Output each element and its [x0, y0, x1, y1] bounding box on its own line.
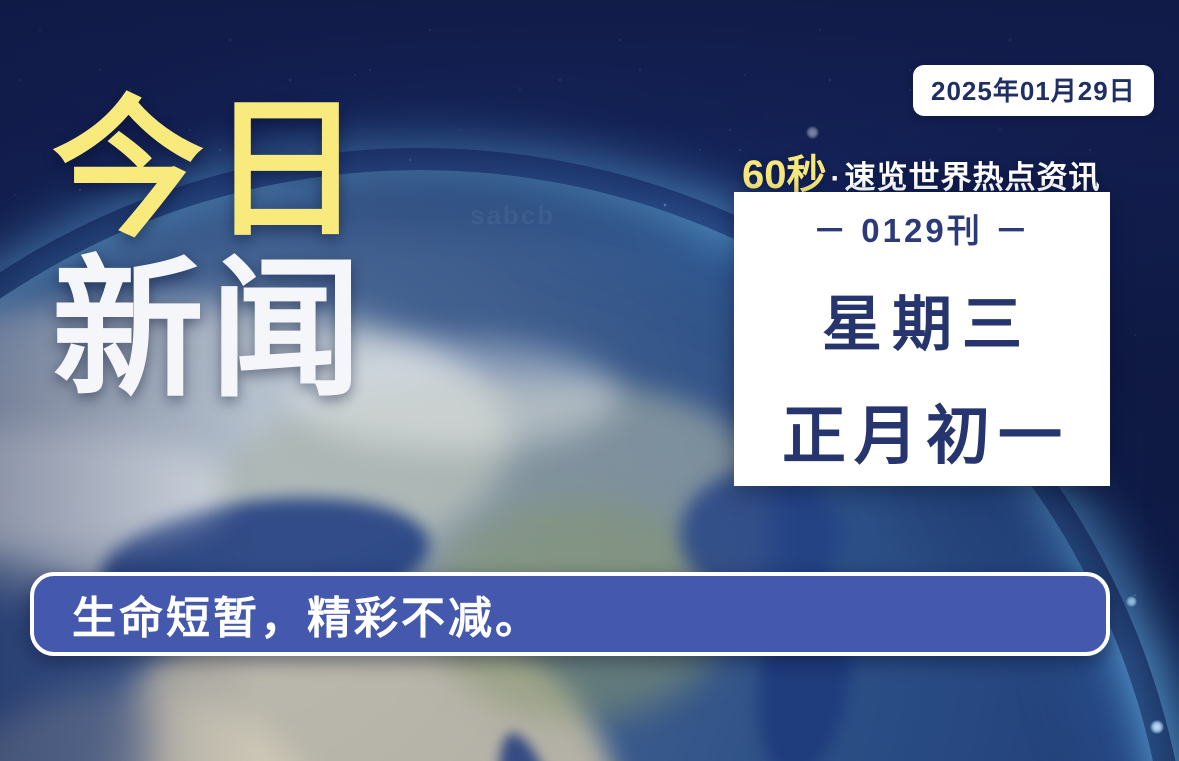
slogan-text: 速览世界热点资讯 [845, 160, 1101, 195]
lunar-date-label: 正月初一 [774, 385, 1070, 477]
watermark-text: sabcb [470, 200, 555, 231]
bottom-slogan-text: 生命短暂，精彩不减。 [72, 582, 542, 646]
issue-card: － 0129刊 － 星期三 正月初一 [734, 192, 1110, 486]
weekday-label: 星期三 [812, 276, 1032, 363]
news-poster: sabcb 今日 新闻 2025年01月29日 60秒·速览世界热点资讯 － 0… [0, 0, 1179, 761]
page-title-line-2: 新闻 [52, 258, 368, 404]
issue-number: － 0129刊 － [813, 204, 1031, 252]
page-title-line-1: 今日 [52, 98, 368, 244]
page-title: 今日 新闻 [52, 98, 368, 404]
slogan-separator: · [827, 162, 845, 195]
bottom-slogan-bar: 生命短暂，精彩不减。 [30, 572, 1110, 656]
date-badge: 2025年01月29日 [913, 65, 1154, 116]
slogan-seconds: 60秒 [742, 153, 827, 197]
